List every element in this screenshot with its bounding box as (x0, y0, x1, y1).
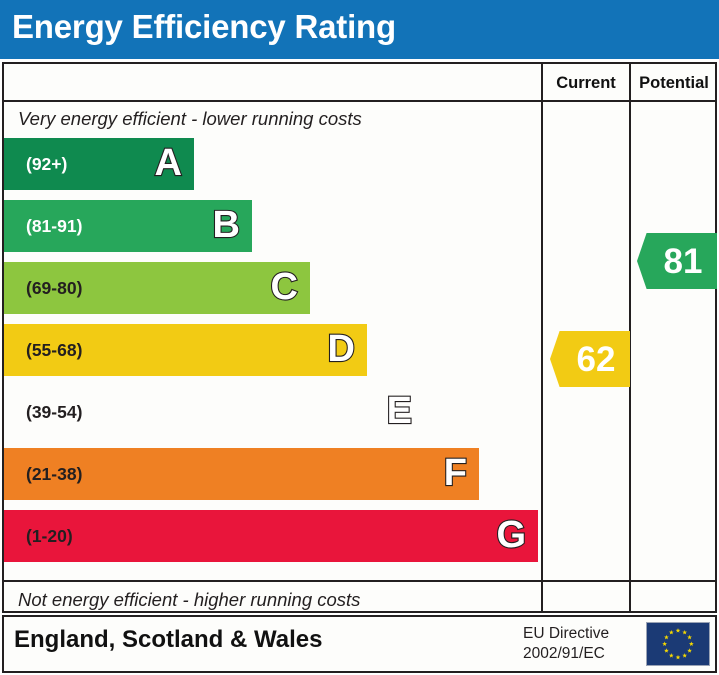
column-divider-current (541, 62, 543, 613)
rating-band-bars: (92+)A(81-91)B(69-80)C(55-68)D(39-54)E(2… (4, 138, 540, 578)
caption-bottom: Not energy efficient - higher running co… (18, 589, 360, 611)
band-letter-a: A (155, 138, 182, 190)
band-letter-e: E (387, 386, 412, 438)
footer-region-label: England, Scotland & Wales (14, 626, 322, 654)
rating-band-c: (69-80)C (4, 262, 310, 314)
band-range-label-g: (1-20) (26, 510, 73, 562)
eu-directive-line-2: 2002/91/EC (523, 644, 609, 664)
column-header-current: Current (543, 70, 629, 96)
rating-band-a: (92+)A (4, 138, 194, 190)
band-range-label-e: (39-54) (26, 386, 82, 438)
eu-directive-line-1: EU Directive (523, 624, 609, 644)
potential-rating-value: 81 (652, 244, 703, 279)
current-rating-badge: 62 (550, 331, 630, 387)
current-rating-value: 62 (565, 342, 616, 377)
band-letter-c: C (271, 262, 298, 314)
chart-header-bar: Energy Efficiency Rating (0, 0, 719, 59)
rating-band-g: (1-20)G (4, 510, 538, 562)
band-range-label-b: (81-91) (26, 200, 82, 252)
band-range-label-d: (55-68) (26, 324, 82, 376)
rating-band-b: (81-91)B (4, 200, 252, 252)
band-letter-b: B (213, 200, 240, 252)
energy-efficiency-rating-certificate: Energy Efficiency Rating Current Potenti… (0, 0, 719, 675)
rating-band-e: (39-54)E (4, 386, 424, 438)
band-range-label-a: (92+) (26, 138, 67, 190)
rating-band-f: (21-38)F (4, 448, 479, 500)
band-area-bottom-rule (2, 580, 717, 582)
band-letter-f: F (444, 448, 467, 500)
band-letter-d: D (328, 324, 355, 376)
page-title: Energy Efficiency Rating (12, 8, 396, 46)
band-range-label-f: (21-38) (26, 448, 82, 500)
band-letter-g: G (496, 510, 526, 562)
potential-rating-badge: 81 (637, 233, 717, 289)
rating-band-d: (55-68)D (4, 324, 367, 376)
eu-flag-icon (646, 622, 710, 666)
header-row-rule (2, 100, 717, 102)
column-header-potential: Potential (631, 70, 717, 96)
eu-directive-label: EU Directive 2002/91/EC (523, 624, 609, 664)
caption-top: Very energy efficient - lower running co… (18, 108, 362, 130)
band-range-label-c: (69-80) (26, 262, 82, 314)
